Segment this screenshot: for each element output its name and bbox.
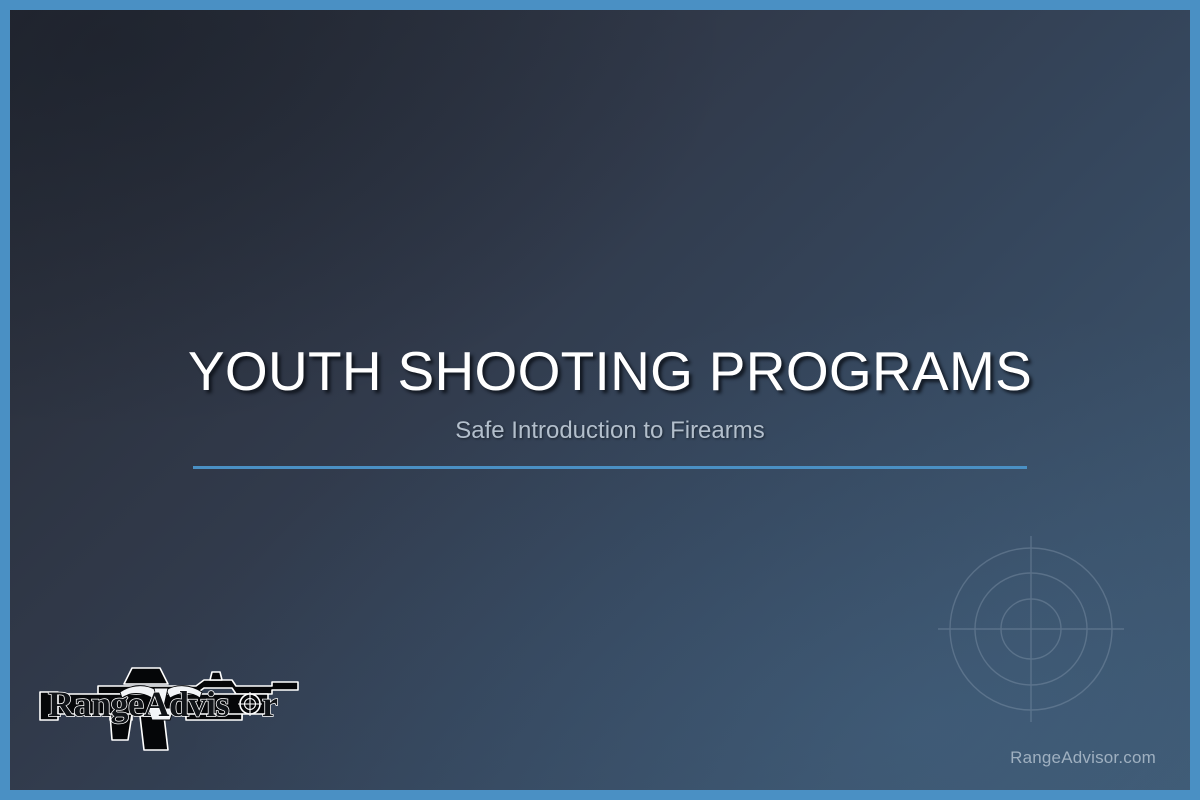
title-block: YOUTH SHOOTING PROGRAMS Safe Introductio… [184, 340, 1036, 469]
brand-logo: RangeAdvis r [36, 658, 314, 754]
page-title: YOUTH SHOOTING PROGRAMS [184, 340, 1036, 402]
title-slide: YOUTH SHOOTING PROGRAMS Safe Introductio… [0, 0, 1200, 800]
logo-wordmark: RangeAdvis [48, 684, 230, 724]
accent-divider [193, 466, 1027, 469]
page-subtitle: Safe Introduction to Firearms [184, 416, 1036, 446]
svg-text:r: r [262, 684, 278, 724]
footer-website: RangeAdvisor.com [1010, 748, 1156, 768]
